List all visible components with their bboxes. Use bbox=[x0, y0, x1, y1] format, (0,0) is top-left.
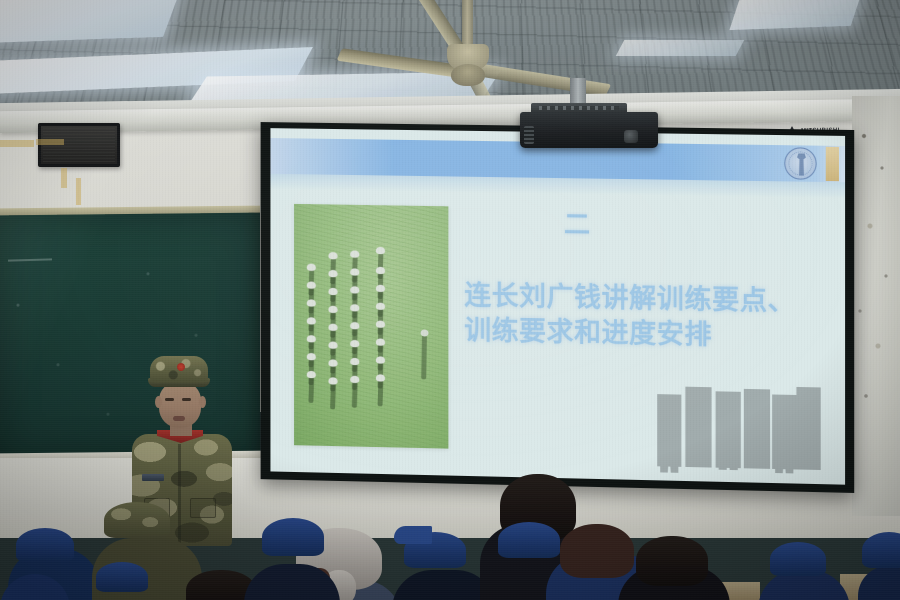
audience-shoulders bbox=[858, 566, 900, 600]
formation-column bbox=[375, 247, 393, 407]
ceiling-light-panel bbox=[729, 0, 860, 30]
slide-title-line-2: 训练要求和进度安排 bbox=[464, 313, 826, 355]
right-side-wall bbox=[852, 96, 900, 516]
presenter-ear bbox=[155, 396, 162, 408]
wall-speaker bbox=[38, 123, 120, 167]
classroom-photo-scene: MITSUBISHI bbox=[0, 0, 900, 600]
formation-column bbox=[349, 247, 367, 406]
silhouette-figure bbox=[772, 394, 796, 469]
audience-cap-brim bbox=[394, 526, 432, 544]
audience-blue-cap bbox=[770, 542, 826, 576]
silhouette-figure bbox=[657, 394, 681, 467]
audience-head bbox=[560, 524, 634, 578]
silhouette-figure bbox=[685, 387, 711, 468]
audience-blue-cap bbox=[262, 518, 324, 556]
cap-badge-icon bbox=[177, 363, 185, 371]
speaker-grille bbox=[43, 128, 115, 162]
right-wall-texture bbox=[852, 96, 900, 516]
slide-silhouette-group bbox=[657, 384, 818, 470]
audience-blue-cap bbox=[862, 532, 900, 568]
lone-figure bbox=[421, 329, 429, 336]
projector-lens bbox=[624, 130, 638, 143]
lone-figure-shadow bbox=[421, 335, 427, 379]
projector-mount-rod bbox=[570, 78, 586, 106]
presenter-mouth bbox=[173, 416, 185, 421]
ceiling-light-panel bbox=[0, 0, 179, 43]
seated-audience bbox=[0, 470, 900, 600]
troop-formation bbox=[306, 246, 401, 407]
formation-column bbox=[328, 246, 346, 405]
projection-screen: 二 连长刘广钱讲解训练要点、 训练要求和进度安排 bbox=[261, 122, 855, 493]
ceiling-light-panel bbox=[616, 40, 745, 56]
wall-tape-mark bbox=[76, 178, 81, 205]
slide-section-number: 二 bbox=[564, 204, 592, 241]
audience-blue-cap bbox=[498, 522, 560, 558]
presentation-slide: 二 连长刘广钱讲解训练要点、 训练要求和进度安排 bbox=[270, 128, 845, 485]
silhouette-figure bbox=[716, 391, 741, 468]
audience-blue-cap bbox=[16, 528, 74, 562]
audience-camo-cap bbox=[104, 502, 170, 538]
presenter-eye bbox=[182, 398, 191, 401]
slide-title: 连长刘广钱讲解训练要点、 训练要求和进度安排 bbox=[464, 278, 826, 355]
presenter-ear bbox=[199, 396, 206, 408]
audience-head bbox=[636, 536, 708, 586]
university-seal-logo-icon bbox=[784, 147, 816, 180]
wall-tape-mark bbox=[61, 168, 67, 188]
silhouette-figure bbox=[744, 389, 770, 469]
audience-blue-cap bbox=[96, 562, 148, 592]
presenter-face bbox=[159, 382, 201, 428]
silhouette-figure bbox=[796, 387, 820, 470]
ceiling-fan-rod bbox=[462, 0, 473, 48]
wall-tape-mark bbox=[36, 139, 64, 145]
wall-tape-mark bbox=[0, 140, 34, 147]
presenter-eye bbox=[165, 398, 174, 401]
projection-screen-surface: 二 连长刘广钱讲解训练要点、 训练要求和进度安排 bbox=[270, 128, 845, 485]
ceiling-projector bbox=[520, 112, 658, 148]
formation-column bbox=[306, 246, 324, 405]
slide-accent-bar bbox=[826, 147, 839, 181]
military-cap bbox=[150, 356, 208, 383]
ceiling-fan-motor bbox=[451, 64, 485, 86]
slide-photo-formation bbox=[294, 204, 448, 449]
